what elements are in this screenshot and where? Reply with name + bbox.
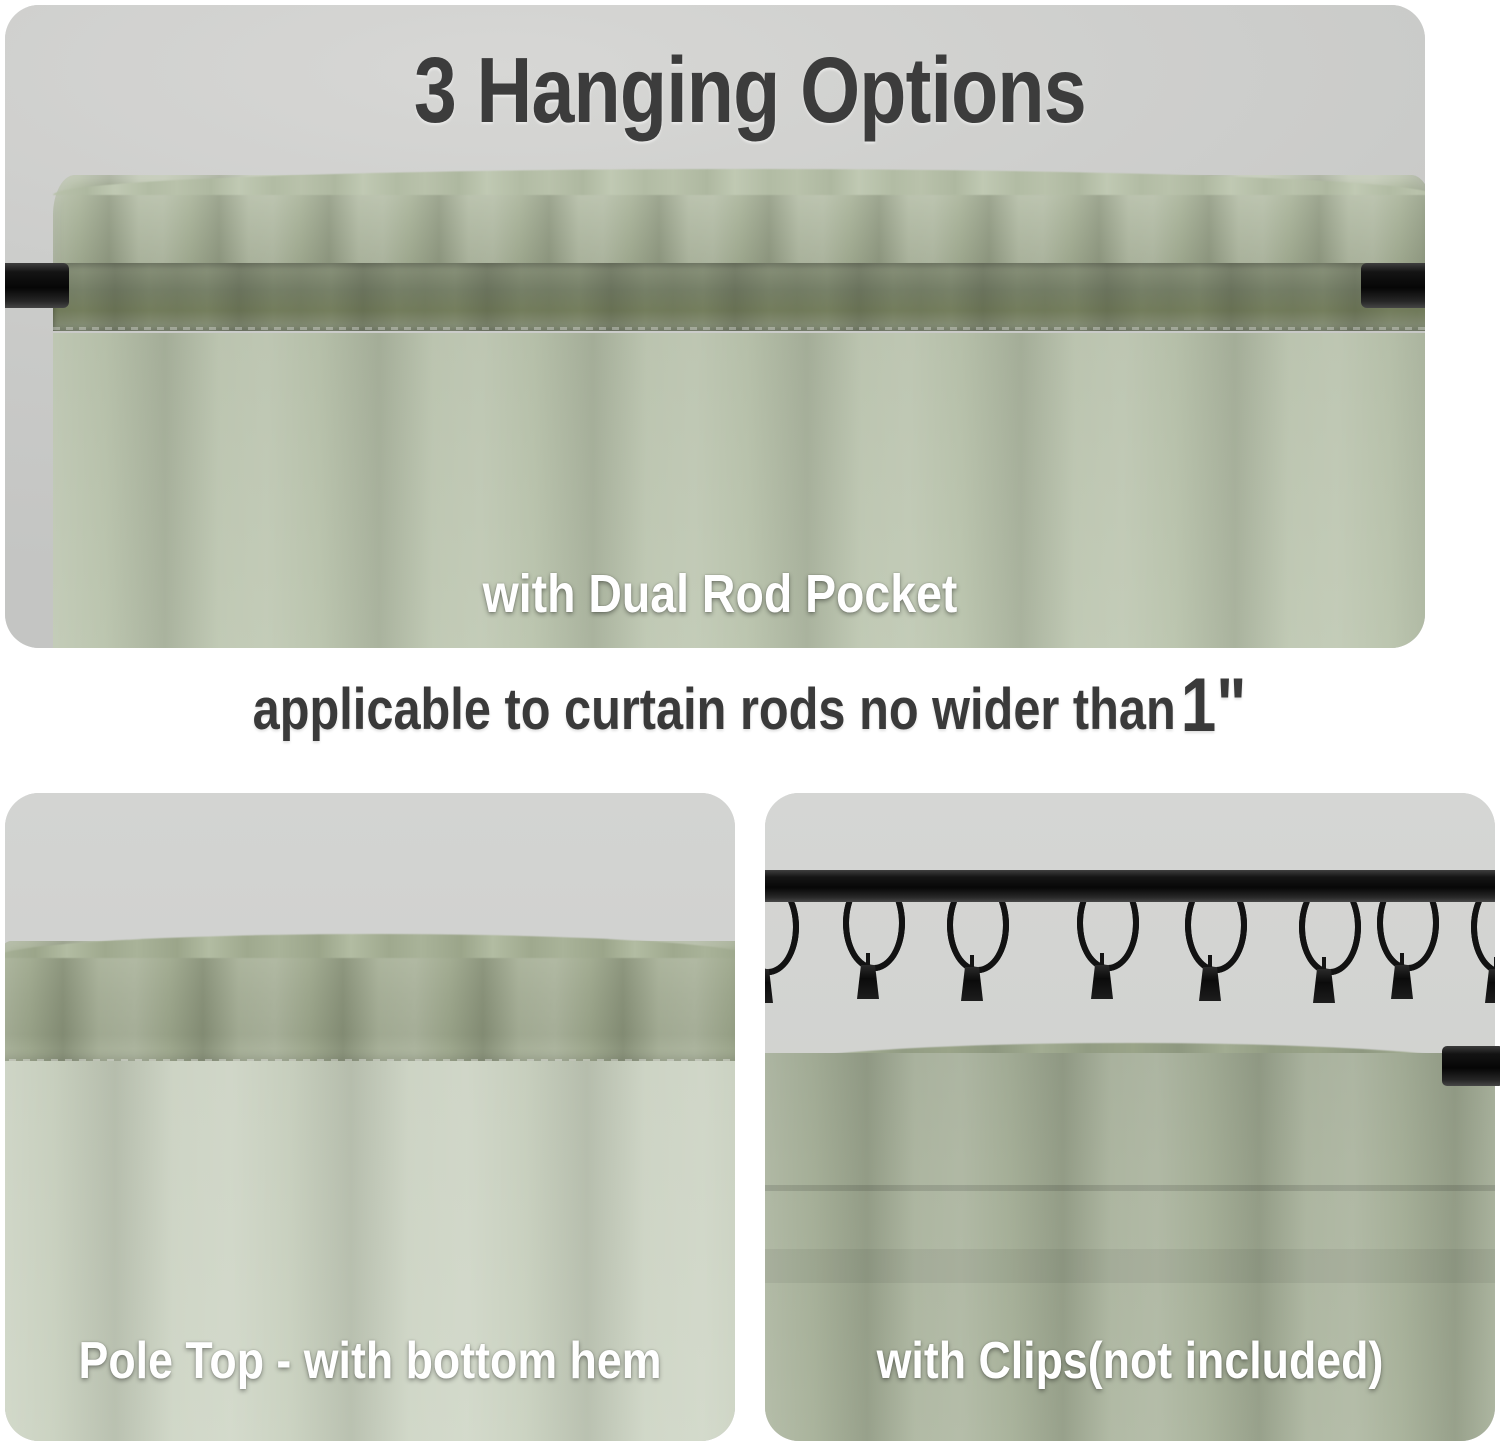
curtain-rod-end bbox=[1442, 1046, 1500, 1086]
hanging-options-infographic: with Dual Rod Pocket 3 Hanging Options a… bbox=[0, 0, 1500, 1446]
rod-show-through-band bbox=[53, 263, 1425, 331]
clip-neck bbox=[1494, 957, 1495, 971]
curtain-rod-right-end bbox=[1361, 263, 1425, 308]
curtain-lower-band bbox=[765, 1249, 1495, 1283]
clip-neck bbox=[1100, 953, 1104, 967]
stitch-line-upper bbox=[53, 327, 1425, 330]
caption-pole-top: Pole Top - with bottom hem bbox=[52, 1335, 688, 1387]
clip-neck bbox=[1400, 953, 1404, 967]
clip-neck bbox=[866, 953, 870, 967]
pole-top-header bbox=[5, 941, 735, 1061]
subtitle-sentence: applicable to curtain rods no wider than bbox=[253, 677, 1176, 742]
subtitle-container: applicable to curtain rods no wider than… bbox=[0, 663, 1500, 749]
caption-dual-rod-pocket: with Dual Rod Pocket bbox=[105, 567, 1335, 621]
clip-neck bbox=[1208, 955, 1212, 969]
curtain-rod bbox=[765, 870, 1495, 902]
caption-with-clips: with Clips(not included) bbox=[816, 1335, 1444, 1387]
clip-neck bbox=[970, 955, 974, 969]
subtitle-text: applicable to curtain rods no wider than… bbox=[253, 668, 1247, 744]
curtain-hem-line bbox=[765, 1185, 1495, 1191]
panel-dual-rod-pocket: with Dual Rod Pocket bbox=[5, 5, 1425, 648]
clip-neck bbox=[1322, 957, 1326, 971]
subtitle-measurement: 1" bbox=[1181, 663, 1247, 748]
curtain-rod-left-end bbox=[5, 263, 69, 308]
